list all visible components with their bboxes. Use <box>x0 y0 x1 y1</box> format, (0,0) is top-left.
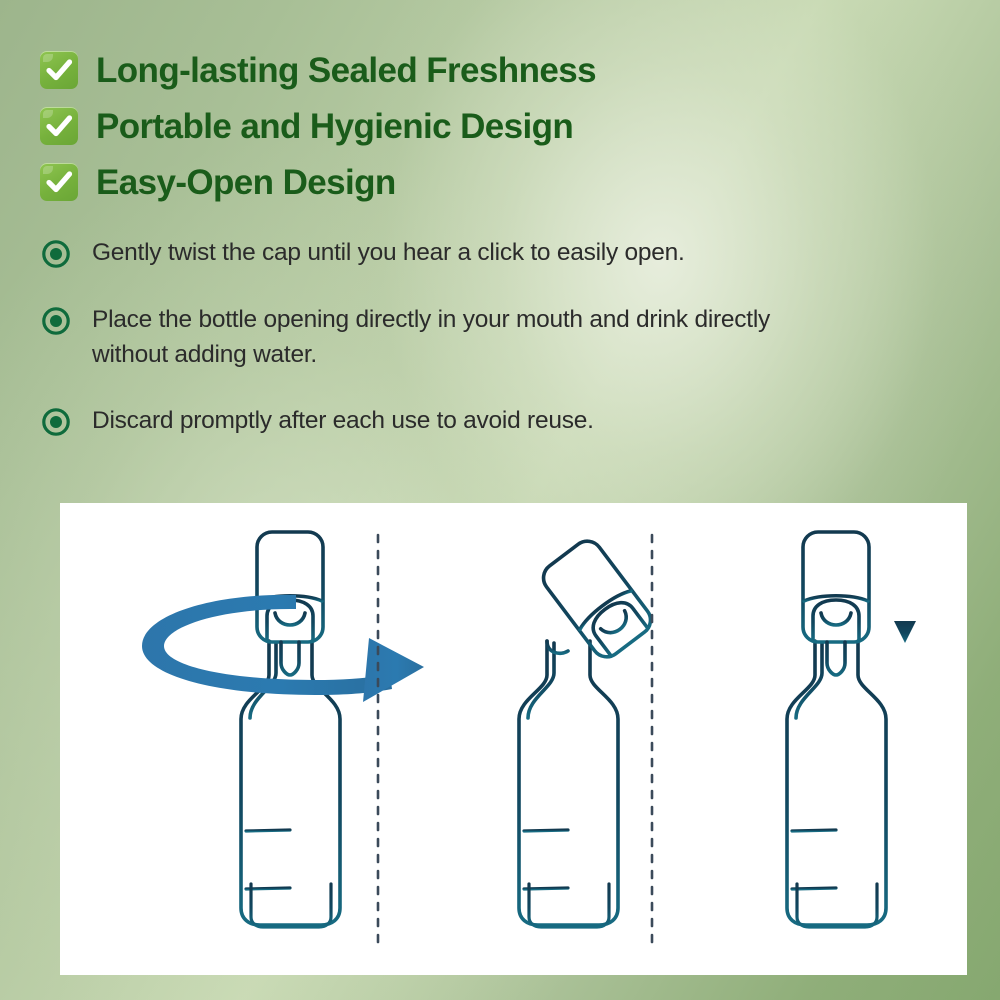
headline-item: Portable and Hygienic Design <box>40 98 940 154</box>
replace-cap-step <box>778 532 916 944</box>
headline-item: Long-lasting Sealed Freshness <box>40 42 940 98</box>
headline-checklist: Long-lasting Sealed Freshness Portable a… <box>40 42 940 210</box>
instruction-text: Gently twist the cap until you hear a cl… <box>92 236 685 271</box>
instruction-list: Gently twist the cap until you hear a cl… <box>40 236 900 439</box>
infographic-page: Long-lasting Sealed Freshness Portable a… <box>0 0 1000 1000</box>
bottle-ribs <box>244 808 338 927</box>
instruction-illustration <box>60 503 967 975</box>
radio-dot-icon <box>40 406 72 438</box>
remove-cap-step <box>510 535 656 944</box>
radio-dot-icon <box>40 305 72 337</box>
illustration-panel <box>60 503 967 975</box>
instruction-text: Discard promptly after each use to avoid… <box>92 404 594 439</box>
check-badge-icon <box>40 107 78 145</box>
rotate-arrow-icon <box>142 595 424 702</box>
list-item: Discard promptly after each use to avoid… <box>40 404 900 439</box>
twist-cap-step <box>142 532 424 944</box>
check-badge-icon <box>40 163 78 201</box>
bottle-ribs <box>522 808 616 927</box>
bottle-spout-open <box>547 641 568 653</box>
instruction-text: Place the bottle opening directly in you… <box>92 303 822 373</box>
headline-label: Portable and Hygienic Design <box>96 109 573 144</box>
headline-item: Easy-Open Design <box>40 154 940 210</box>
bottle-ribs <box>790 808 884 927</box>
radio-dot-icon <box>40 238 72 270</box>
down-arrow-icon <box>894 565 916 643</box>
check-badge-icon <box>40 51 78 89</box>
headline-label: Easy-Open Design <box>96 165 396 200</box>
list-item: Place the bottle opening directly in you… <box>40 303 900 373</box>
headline-label: Long-lasting Sealed Freshness <box>96 53 596 88</box>
list-item: Gently twist the cap until you hear a cl… <box>40 236 900 271</box>
